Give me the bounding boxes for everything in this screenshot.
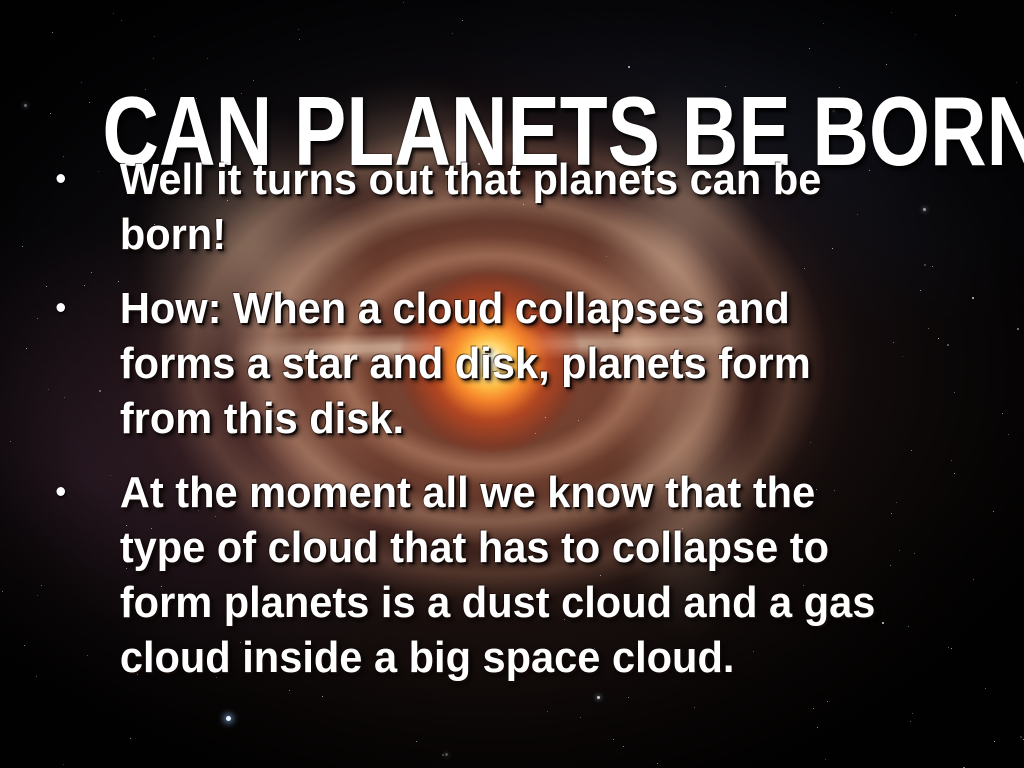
list-item: How: When a cloud collapses and forms a … bbox=[48, 281, 899, 446]
bullet-text: Well it turns out that planets can be bo… bbox=[120, 152, 899, 262]
bullet-text: How: When a cloud collapses and forms a … bbox=[120, 281, 899, 446]
bullet-dot-icon bbox=[57, 174, 66, 183]
list-item: At the moment all we know that the type … bbox=[48, 465, 899, 685]
bullet-dot-icon bbox=[57, 303, 66, 312]
presentation-slide: CAN PLANETS BE BORN? Well it turns out t… bbox=[0, 0, 1024, 768]
bullet-list: Well it turns out that planets can be bo… bbox=[48, 152, 948, 685]
slide-content: CAN PLANETS BE BORN? Well it turns out t… bbox=[0, 0, 1024, 768]
bullet-text: At the moment all we know that the type … bbox=[120, 465, 899, 685]
bullet-dot-icon bbox=[57, 487, 66, 496]
list-item: Well it turns out that planets can be bo… bbox=[48, 152, 899, 262]
